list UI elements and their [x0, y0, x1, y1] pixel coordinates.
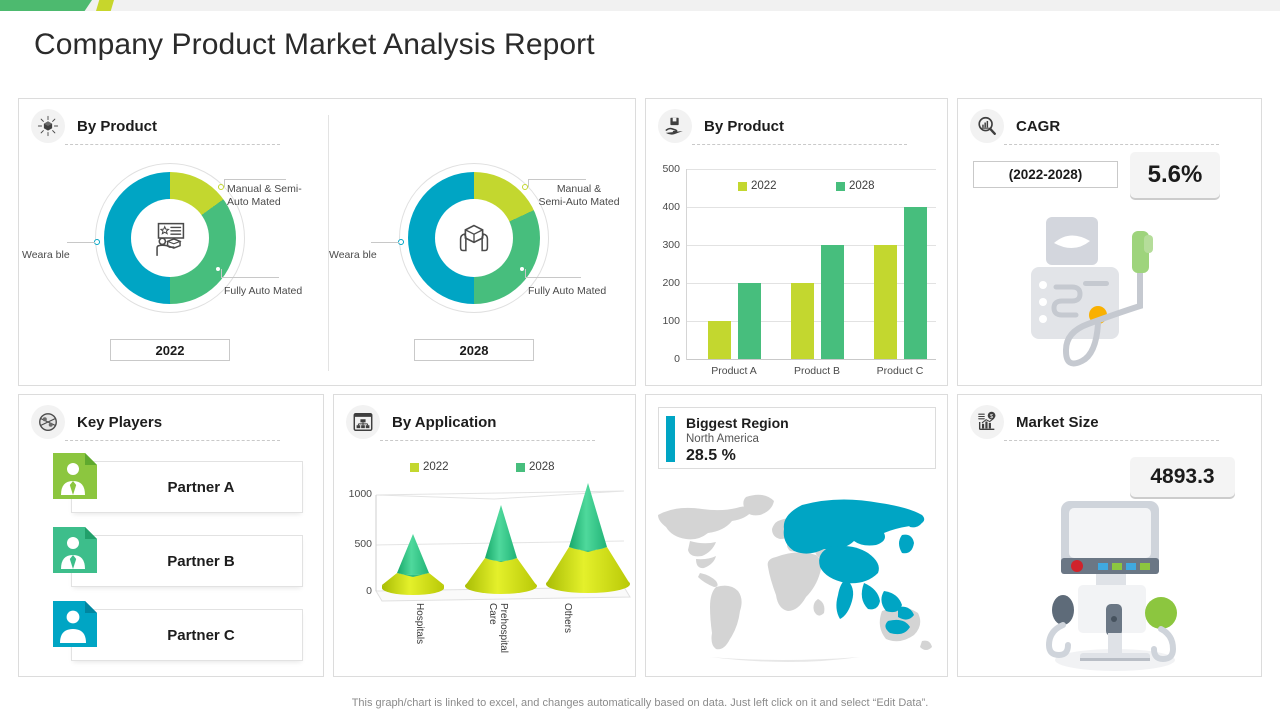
bar-2022-product-c[interactable]: [874, 245, 897, 359]
panel-cagr: CAGR (2022-2028) 5.6%: [957, 98, 1262, 386]
callout-line-manual-2028: [528, 179, 586, 180]
year-box-2022[interactable]: 2022: [110, 339, 230, 361]
bar-chart-plot[interactable]: 500 400 300 200 100 0 Product A Product …: [646, 99, 949, 387]
xtick-product-a: Product A: [694, 365, 774, 377]
cone-hospitals: [382, 534, 444, 595]
callout-elbow-manual-2022: [224, 179, 225, 187]
key-player-row[interactable]: Partner B: [53, 535, 303, 587]
xtick-product-b: Product B: [777, 365, 857, 377]
ytick-200: 200: [654, 277, 680, 289]
key-player-name: Partner B: [167, 553, 235, 570]
callout-elbow-fully-2022: [221, 269, 222, 278]
gridline-400: [686, 207, 936, 208]
region-subtitle: North America: [686, 433, 759, 445]
callout-elbow-fully-2028: [525, 269, 526, 278]
panel-by-product-bar: By Product 2022 2028 500 400 300 200 100…: [645, 98, 948, 386]
presentation-person-icon: [131, 199, 209, 277]
callout-line-wearable-2022: [67, 242, 95, 243]
xtick-prehospital-care: Prehospital Care: [483, 603, 509, 671]
cagr-value-box[interactable]: 5.6%: [1130, 152, 1220, 198]
accent-green-segment: [0, 0, 92, 11]
region-accent-bar: [666, 416, 675, 462]
key-player-name: Partner A: [168, 479, 235, 496]
panel-header: Key Players: [31, 405, 162, 439]
header-divider: [65, 440, 280, 441]
panel-header: $ Market Size: [970, 405, 1099, 439]
panel-title: Key Players: [77, 414, 162, 431]
bar-2028-product-b[interactable]: [821, 245, 844, 359]
donut-label-wearable-2028: Weara ble: [329, 249, 389, 262]
callout-line-manual-2022: [224, 179, 286, 180]
person-tie-icon: [53, 527, 97, 573]
header-divider: [65, 144, 280, 145]
axis-x: [686, 359, 936, 360]
ytick-100: 100: [654, 315, 680, 327]
market-size-value-box[interactable]: 4893.3: [1130, 457, 1235, 497]
bar-2028-product-c[interactable]: [904, 207, 927, 359]
donut-label-fully-2022: Fully Auto Mated: [224, 285, 330, 298]
person-tie-icon: [53, 453, 97, 499]
donut-panel-divider: [328, 115, 329, 371]
panel-by-product-donuts: By Product Manual & Semi-Auto Mated: [18, 98, 636, 386]
xtick-others: Others: [562, 603, 573, 663]
globe-players-icon: [31, 405, 65, 439]
cagr-period-box[interactable]: (2022-2028): [973, 161, 1118, 188]
panel-header: By Product: [31, 109, 157, 143]
region-title: Biggest Region: [686, 415, 789, 431]
ytick-300: 300: [654, 239, 680, 251]
gridline-300: [686, 245, 936, 246]
hands-holding-box-icon: [435, 199, 513, 277]
panel-header: CAGR: [970, 109, 1060, 143]
callout-line-fully-2022: [221, 277, 279, 278]
key-player-row[interactable]: Partner C: [53, 609, 303, 661]
ytick-0: 0: [340, 585, 372, 597]
bar-2022-product-b[interactable]: [791, 283, 814, 359]
key-player-card[interactable]: Partner A: [71, 461, 303, 513]
ytick-0: 0: [654, 353, 680, 365]
top-accent-bar: [0, 0, 1280, 11]
cone-chart-plot[interactable]: 1000 500 0 Hospitals Prehospital Care Ot…: [334, 395, 637, 678]
patient-monitor-icon: [1020, 497, 1210, 672]
footer-note: This graph/chart is linked to excel, and…: [0, 697, 1280, 709]
key-player-row[interactable]: Partner A: [53, 461, 303, 513]
donut-label-fully-2028: Fully Auto Mated: [528, 285, 634, 298]
donut-label-manual-2028: Manual &Semi-Auto Mated: [531, 183, 627, 208]
panel-by-application: By Application 2022 2028: [333, 394, 636, 677]
person-icon: [53, 601, 97, 647]
world-map-icon[interactable]: [650, 481, 945, 671]
xtick-hospitals: Hospitals: [414, 603, 425, 663]
donut-label-wearable-2022: Weara ble: [22, 249, 82, 262]
year-box-2028[interactable]: 2028: [414, 339, 534, 361]
ytick-1000: 1000: [340, 488, 372, 500]
ytick-500: 500: [340, 538, 372, 550]
bar-2028-product-a[interactable]: [738, 283, 761, 359]
key-player-card[interactable]: Partner B: [71, 535, 303, 587]
magnifier-chart-icon: [970, 109, 1004, 143]
panel-market-size: $ Market Size 4893.3: [957, 394, 1262, 677]
panel-biggest-region: Biggest Region North America 28.5 %: [645, 394, 948, 677]
panel-key-players: Key Players Partner A Partner B: [18, 394, 324, 677]
xtick-product-c: Product C: [860, 365, 940, 377]
callout-line-fully-2028: [525, 277, 581, 278]
cube-network-icon: [31, 109, 65, 143]
cone-others: [546, 483, 630, 593]
donut-label-manual-2022: Manual & Semi-Auto Mated: [227, 183, 323, 208]
gridline-500: [686, 169, 936, 170]
ytick-400: 400: [654, 201, 680, 213]
callout-elbow-manual-2028: [528, 179, 529, 187]
panel-title: Market Size: [1016, 414, 1099, 431]
callout-line-wearable-2028: [371, 242, 399, 243]
panel-title: CAGR: [1016, 118, 1060, 135]
header-divider: [1004, 144, 1219, 145]
header-divider: [1004, 440, 1219, 441]
biggest-region-card[interactable]: Biggest Region North America 28.5 %: [658, 407, 936, 469]
market-chart-dollar-icon: $: [970, 405, 1004, 439]
cone-prehospital-care: [465, 505, 537, 594]
page-title: Company Product Market Analysis Report: [34, 28, 595, 62]
accent-lime-segment: [96, 0, 114, 11]
bar-2022-product-a[interactable]: [708, 321, 731, 359]
ytick-500: 500: [654, 163, 680, 175]
axis-y: [686, 169, 687, 360]
region-value: 28.5 %: [686, 447, 736, 465]
key-player-card[interactable]: Partner C: [71, 609, 303, 661]
panel-title: By Product: [77, 118, 157, 135]
pulse-oximeter-icon: [1026, 209, 1206, 379]
key-player-name: Partner C: [167, 627, 235, 644]
